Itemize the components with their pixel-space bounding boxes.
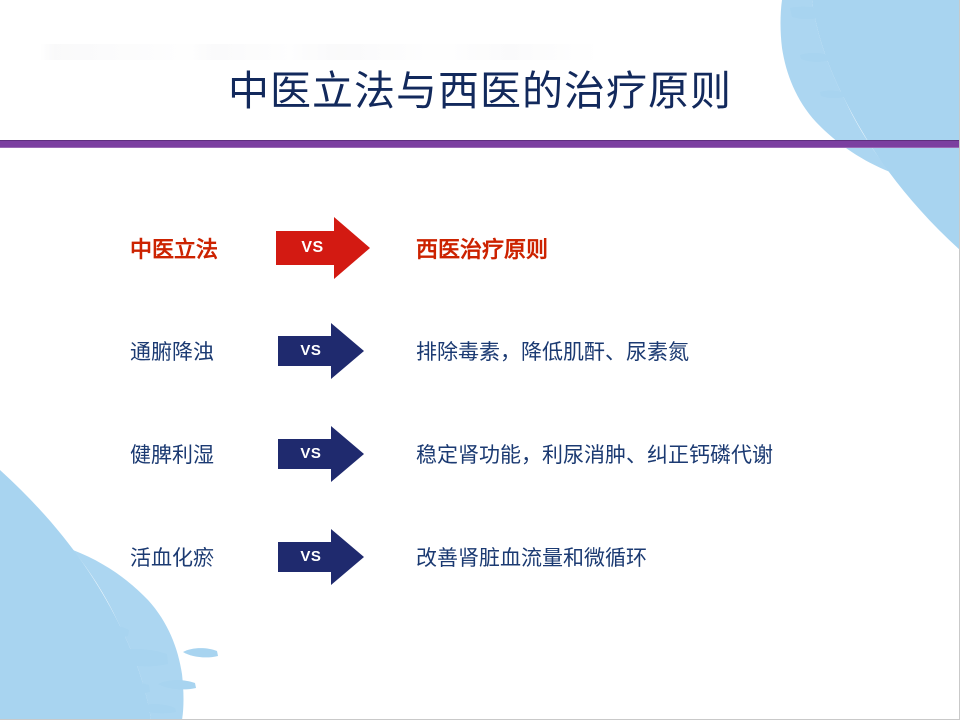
comparison-rows: 中医立法 VS 西医治疗原则 通腑降浊 VS	[0, 196, 960, 608]
western-principle-label: 西医治疗原则	[416, 196, 950, 299]
vs-arrow-container: VS	[278, 402, 364, 505]
western-principle-label: 稳定肾功能，利尿消肿、纠正钙磷代谢	[416, 402, 950, 505]
tcm-principle-label: 健脾利湿	[130, 402, 270, 505]
vs-arrow-container: VS	[276, 196, 370, 299]
tcm-principle-label: 活血化瘀	[130, 505, 270, 608]
comparison-row: 活血化瘀 VS 改善肾脏血流量和微循环	[0, 505, 960, 608]
vs-arrow-navy: VS	[278, 426, 364, 482]
comparison-row: 通腑降浊 VS 排除毒素，降低肌酐、尿素氮	[0, 299, 960, 402]
vs-arrow-label: VS	[278, 529, 364, 585]
vs-arrow-navy: VS	[278, 323, 364, 379]
vs-arrow-container: VS	[278, 299, 364, 402]
vs-arrow-label: VS	[278, 426, 364, 482]
vs-arrow-label: VS	[276, 217, 370, 279]
tcm-principle-label: 中医立法	[130, 196, 270, 299]
vs-arrow-container: VS	[278, 505, 364, 608]
faint-watermark-band	[40, 44, 600, 60]
vs-arrow-navy: VS	[278, 529, 364, 585]
western-principle-label: 排除毒素，降低肌酐、尿素氮	[416, 299, 950, 402]
page-title: 中医立法与西医的治疗原则	[228, 70, 732, 113]
comparison-row: 中医立法 VS 西医治疗原则	[0, 196, 960, 299]
title-divider-rule	[0, 140, 960, 148]
comparison-row: 健脾利湿 VS 稳定肾功能，利尿消肿、纠正钙磷代谢	[0, 402, 960, 505]
vs-arrow-red: VS	[276, 217, 370, 279]
western-principle-label: 改善肾脏血流量和微循环	[416, 505, 950, 608]
slide-canvas: 中医立法与西医的治疗原则 中医立法 VS 西医治疗原则 通腑降浊	[0, 0, 960, 720]
tcm-principle-label: 通腑降浊	[130, 299, 270, 402]
title-zone: 中医立法与西医的治疗原则	[0, 70, 960, 113]
vs-arrow-label: VS	[278, 323, 364, 379]
